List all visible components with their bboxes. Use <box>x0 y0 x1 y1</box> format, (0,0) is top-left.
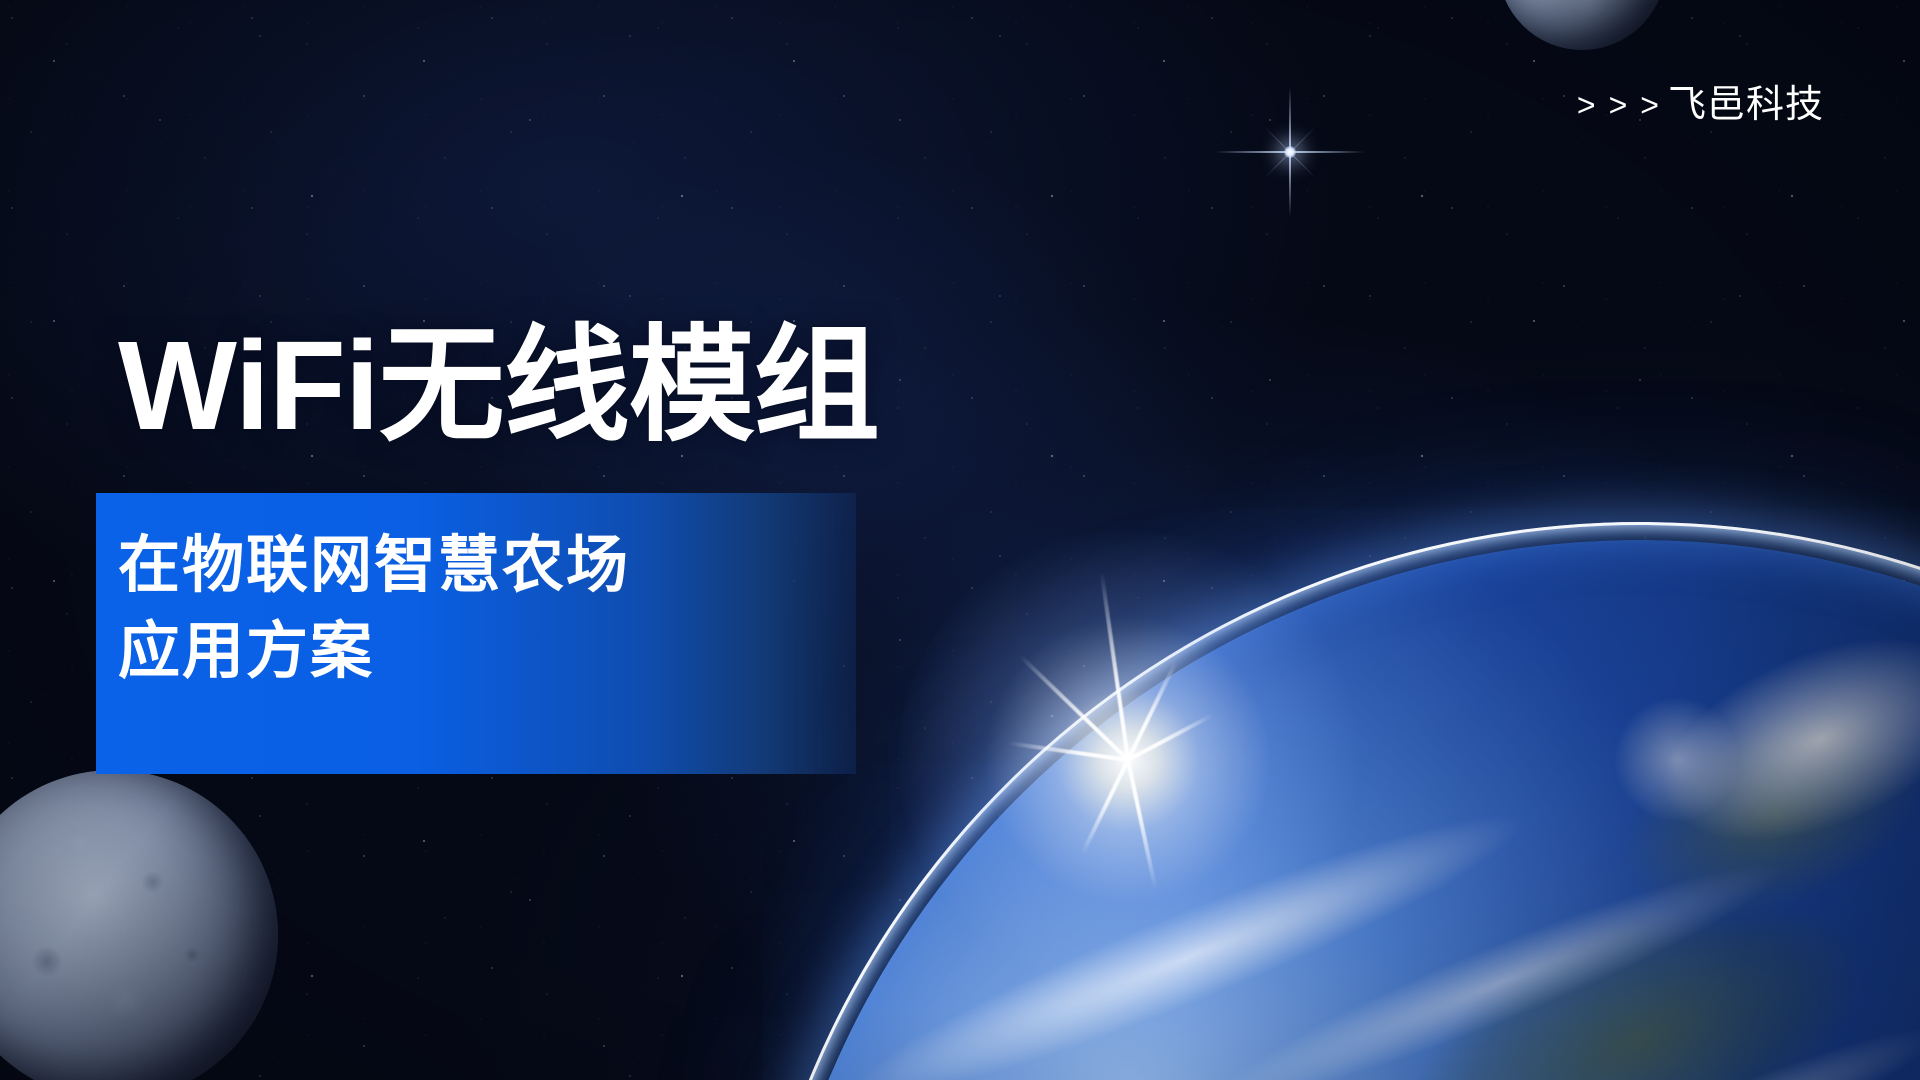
chevron-right-icon-3: > <box>1640 89 1659 121</box>
brand-lockup: > > > 飞邑科技 <box>1577 86 1824 124</box>
subtitle-line-2: 应用方案 <box>118 609 856 695</box>
subtitle-line-1: 在物联网智慧农场 <box>118 523 856 609</box>
brand-name: 飞邑科技 <box>1668 86 1824 124</box>
chevron-right-icon-1: > <box>1577 89 1596 121</box>
page-title: WiFi无线模组 <box>118 318 879 454</box>
chevron-right-icon-2: > <box>1609 89 1628 121</box>
slide-canvas: > > > 飞邑科技 WiFi无线模组 在物联网智慧农场 应用方案 <box>0 0 1920 1080</box>
subtitle-panel: 在物联网智慧农场 应用方案 <box>96 493 856 774</box>
chevron-group-icon: > > > <box>1577 89 1659 121</box>
